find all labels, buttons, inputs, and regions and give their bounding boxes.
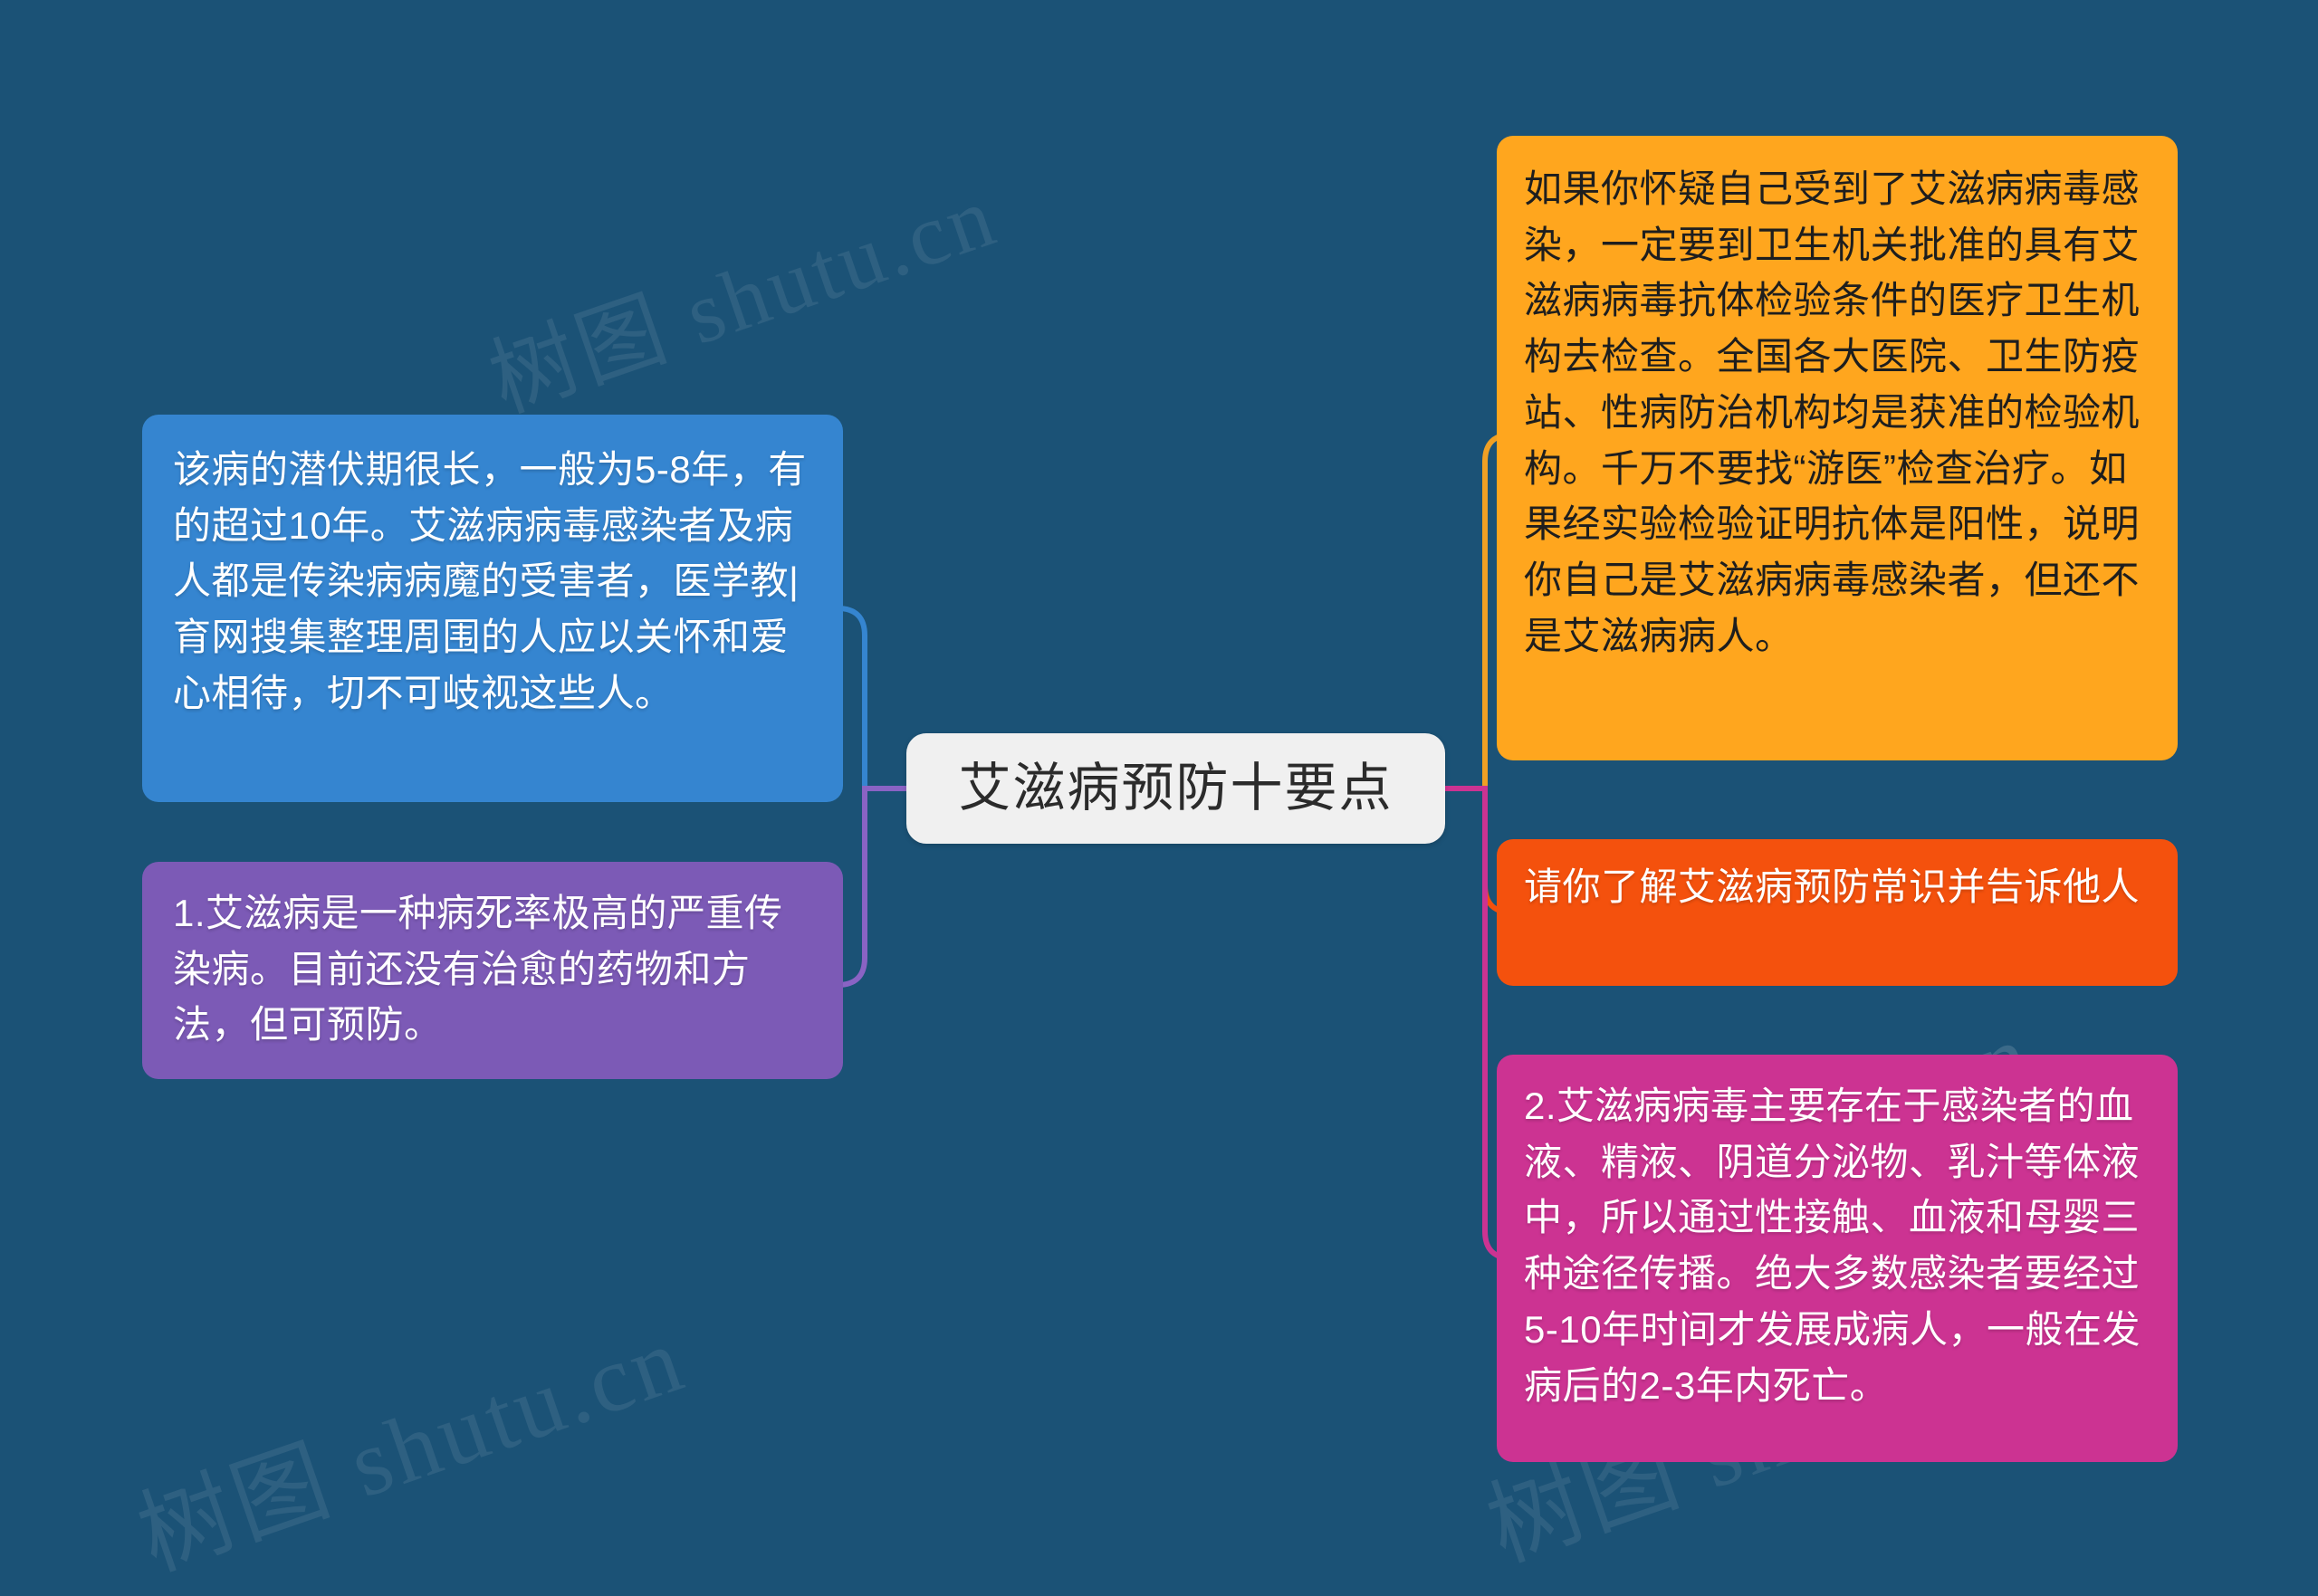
branch-node-red-label: 请你了解艾滋病预防常识并告诉他人 bbox=[1524, 859, 2150, 915]
root-node-label: 艾滋病预防十要点 bbox=[958, 750, 1393, 827]
branch-node-orange-label: 如果你怀疑自己受到了艾滋病病毒感染，一定要到卫生机关批准的具有艾滋病病毒抗体检验… bbox=[1524, 161, 2150, 664]
branch-node-red[interactable]: 请你了解艾滋病预防常识并告诉他人 bbox=[1497, 839, 2178, 986]
branch-node-blue[interactable]: 该病的潜伏期很长，一般为5-8年，有的超过10年。艾滋病病毒感染者及病人都是传染… bbox=[142, 415, 843, 802]
branch-node-blue-label: 该病的潜伏期很长，一般为5-8年，有的超过10年。艾滋病病毒感染者及病人都是传染… bbox=[173, 442, 812, 722]
root-node[interactable]: 艾滋病预防十要点 bbox=[906, 733, 1445, 844]
watermark: 树图 shutu.cn bbox=[471, 145, 1011, 435]
branch-node-pink-label: 2.艾滋病病毒主要存在于感染者的血液、精液、阴道分泌物、乳汁等体液中，所以通过性… bbox=[1524, 1078, 2150, 1413]
branch-node-orange[interactable]: 如果你怀疑自己受到了艾滋病病毒感染，一定要到卫生机关批准的具有艾滋病病毒抗体检验… bbox=[1497, 136, 2178, 760]
branch-node-purple-label: 1.艾滋病是一种病死率极高的严重传染病。目前还没有治愈的药物和方法，但可预防。 bbox=[173, 885, 812, 1053]
watermark: 树图 shutu.cn bbox=[118, 1282, 700, 1596]
mindmap-canvas: 树图 shutu.cn 树图 shutu.cn 树图 shutu.cn 树图 s… bbox=[0, 0, 2318, 1569]
branch-node-purple[interactable]: 1.艾滋病是一种病死率极高的严重传染病。目前还没有治愈的药物和方法，但可预防。 bbox=[142, 862, 843, 1079]
branch-node-pink[interactable]: 2.艾滋病病毒主要存在于感染者的血液、精液、阴道分泌物、乳汁等体液中，所以通过性… bbox=[1497, 1055, 2178, 1462]
